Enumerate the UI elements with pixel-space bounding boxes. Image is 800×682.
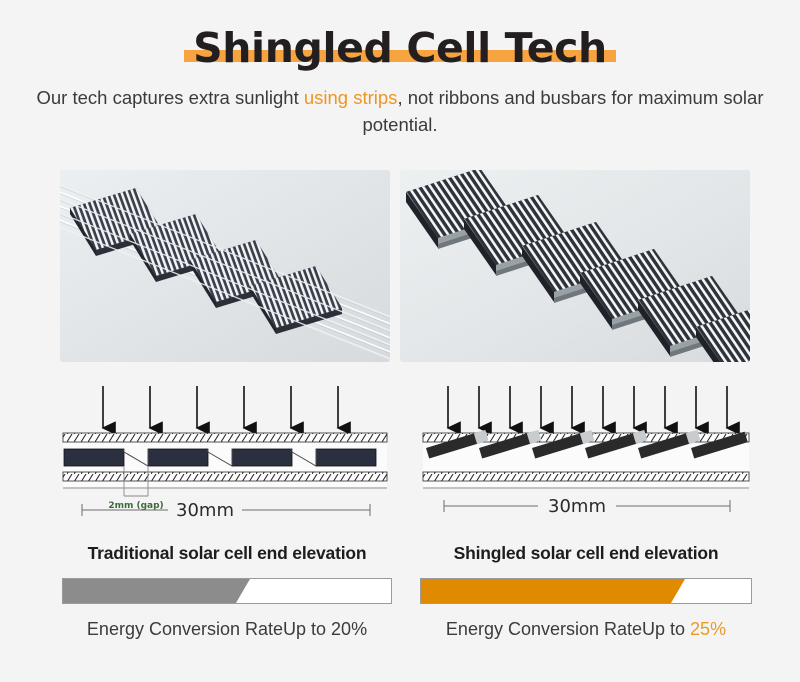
- shingled-rate-bar: [420, 578, 752, 604]
- shingled-cells-photo: [400, 170, 750, 362]
- sunlight-arrows: [103, 386, 338, 428]
- traditional-rate-fill: [63, 579, 250, 603]
- bottom-encapsulant-layer: [63, 472, 387, 481]
- traditional-diagram: 2mm (gap) 30mm: [60, 378, 390, 518]
- shingled-rate-label: Energy Conversion RateUp to: [446, 619, 690, 639]
- photo-panels: [0, 170, 800, 362]
- width-label: 30mm: [548, 496, 606, 517]
- traditional-rate-bar: [62, 578, 392, 604]
- subtitle-text-before: Our tech captures extra sunlight: [37, 87, 304, 108]
- bottom-encapsulant-layer: [423, 472, 749, 481]
- page-subtitle: Our tech captures extra sunlight using s…: [0, 85, 800, 139]
- shingled-comparison: Shingled solar cell end elevation Energy…: [420, 543, 752, 640]
- traditional-rate-text: Energy Conversion RateUp to 20%: [62, 619, 392, 640]
- shingled-diagram: 30mm: [420, 378, 752, 518]
- subtitle-text-after: , not ribbons and busbars for maximum so…: [362, 87, 763, 135]
- top-encapsulant-layer: [63, 433, 387, 442]
- width-label: 30mm: [176, 500, 234, 518]
- traditional-rate-value: 20%: [331, 619, 367, 639]
- page-title: Shingled Cell Tech: [193, 26, 607, 70]
- cross-section-diagrams: 2mm (gap) 30mm: [0, 378, 800, 518]
- traditional-cells-photo: [60, 170, 390, 362]
- page-title-wrap: Shingled Cell Tech: [193, 26, 607, 70]
- traditional-cross-section-svg: 2mm (gap) 30mm: [60, 378, 390, 518]
- header: Shingled Cell Tech Our tech captures ext…: [0, 0, 800, 139]
- shingled-cross-section-svg: 30mm: [420, 378, 752, 518]
- subtitle-highlight: using strips: [304, 87, 398, 108]
- shingled-cells-illustration: [400, 170, 750, 362]
- infographic-page: Shingled Cell Tech Our tech captures ext…: [0, 0, 800, 682]
- shingled-rate-text: Energy Conversion RateUp to 25%: [420, 619, 752, 640]
- traditional-caption: Traditional solar cell end elevation: [62, 543, 392, 564]
- shingled-caption: Shingled solar cell end elevation: [420, 543, 752, 564]
- traditional-rate-label: Energy Conversion RateUp to: [87, 619, 331, 639]
- traditional-cells-illustration: [60, 170, 390, 362]
- traditional-comparison: Traditional solar cell end elevation Ene…: [62, 543, 392, 640]
- shingled-rate-fill: [421, 579, 685, 603]
- sunlight-arrows: [448, 386, 727, 428]
- shingled-rate-value: 25%: [690, 619, 726, 639]
